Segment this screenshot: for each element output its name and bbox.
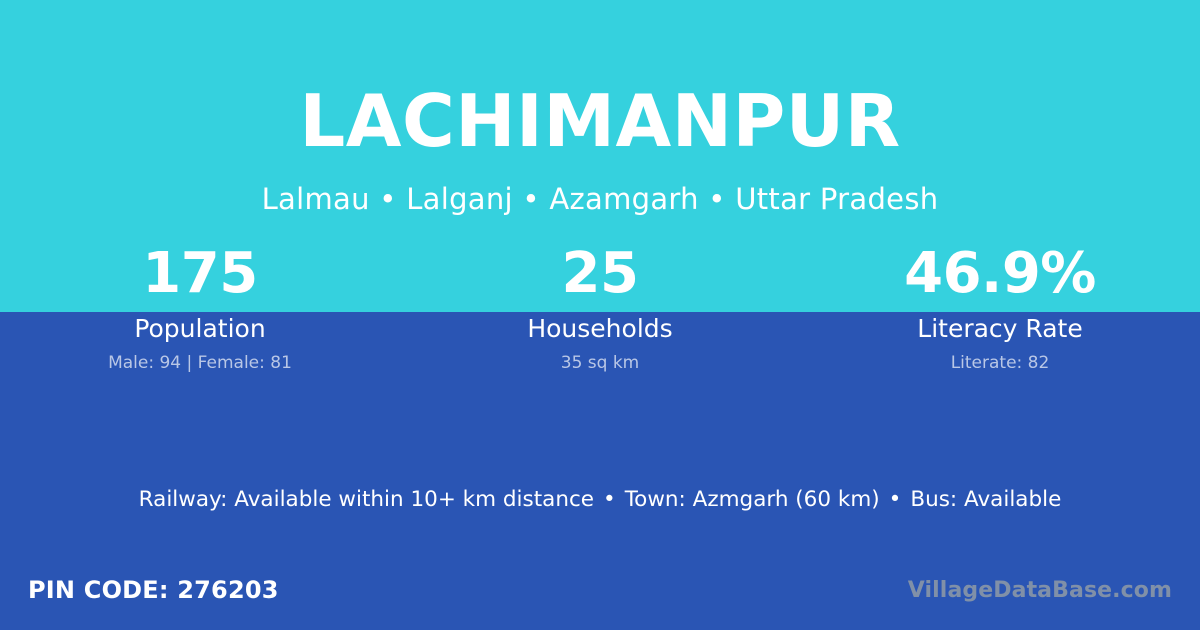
stat-population: 175 Population Male: 94 | Female: 81 bbox=[0, 243, 400, 373]
stat-value: 175 bbox=[0, 243, 400, 305]
village-info-card: LACHIMANPUR Lalmau • Lalganj • Azamgarh … bbox=[0, 0, 1200, 630]
bullet-separator-icon: • bbox=[880, 486, 911, 514]
stat-label: Literacy Rate bbox=[800, 314, 1200, 343]
stat-households: 25 Households 35 sq km bbox=[400, 243, 800, 373]
stat-label: Households bbox=[400, 314, 800, 343]
info-town: Town: Azmgarh (60 km) bbox=[625, 487, 880, 512]
footer: PIN CODE: 276203 VillageDataBase.com bbox=[0, 575, 1200, 630]
bullet-separator-icon: • bbox=[594, 486, 625, 514]
amenities-info-line: Railway: Available within 10+ km distanc… bbox=[0, 486, 1200, 514]
info-railway: Railway: Available within 10+ km distanc… bbox=[139, 487, 594, 512]
stat-value: 25 bbox=[400, 243, 800, 305]
stat-sublabel: Literate: 82 bbox=[800, 353, 1200, 373]
stat-sublabel: 35 sq km bbox=[400, 353, 800, 373]
stat-value: 46.9% bbox=[800, 243, 1200, 305]
info-bus: Bus: Available bbox=[910, 487, 1061, 512]
breadcrumb-location: Lalmau • Lalganj • Azamgarh • Uttar Prad… bbox=[0, 182, 1200, 216]
stats-row: 175 Population Male: 94 | Female: 81 25 … bbox=[0, 243, 1200, 373]
pin-code: PIN CODE: 276203 bbox=[28, 575, 279, 605]
stat-literacy-rate: 46.9% Literacy Rate Literate: 82 bbox=[800, 243, 1200, 373]
page-title: LACHIMANPUR bbox=[0, 78, 1200, 164]
stat-sublabel: Male: 94 | Female: 81 bbox=[0, 353, 400, 373]
brand-watermark: VillageDataBase.com bbox=[908, 577, 1172, 605]
stat-label: Population bbox=[0, 314, 400, 343]
